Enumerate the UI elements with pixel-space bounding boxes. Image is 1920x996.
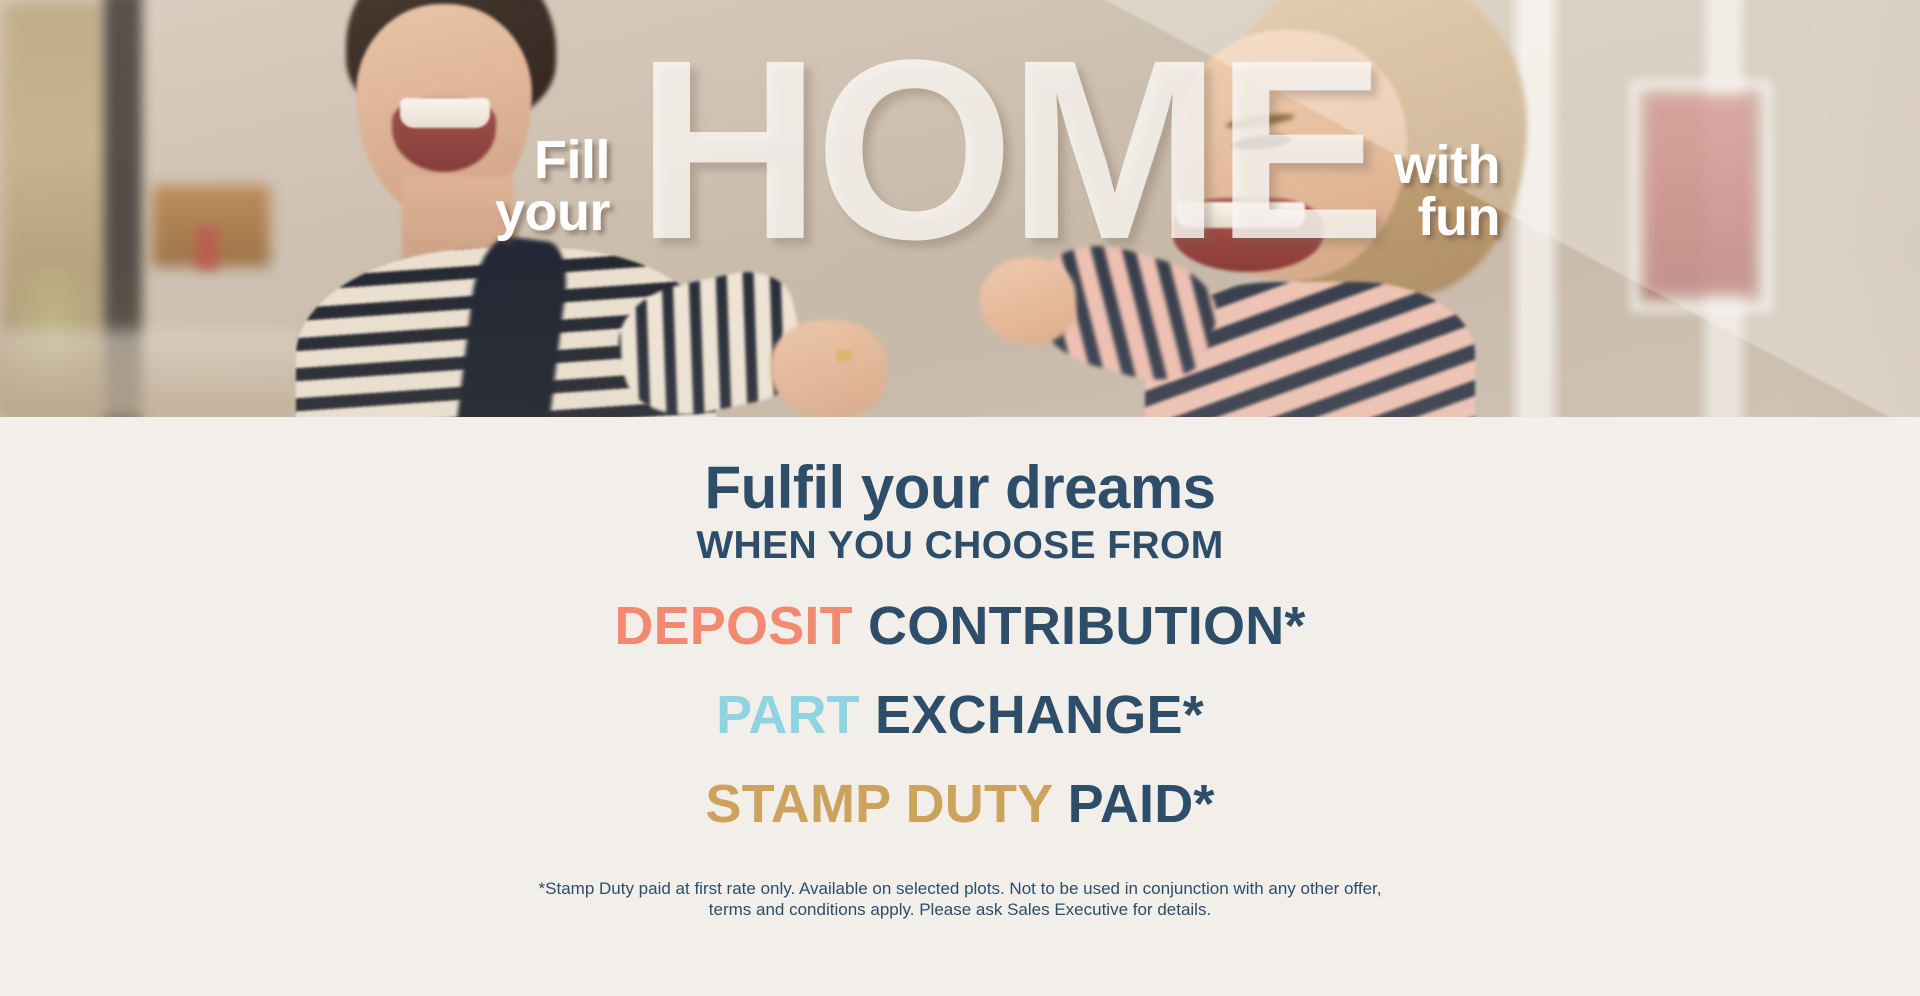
- offer-highlight-deposit: DEPOSIT: [614, 596, 852, 656]
- woman-figure: [150, 0, 710, 417]
- offer-item-deposit-contribution: DEPOSIT CONTRIBUTION*: [0, 599, 1920, 653]
- disclaimer-line-2: terms and conditions apply. Please ask S…: [0, 900, 1920, 921]
- offer-highlight-stamp-duty: STAMP DUTY: [705, 774, 1052, 834]
- hero-photo: [0, 0, 1920, 417]
- offers-section: Fulfil your dreams WHEN YOU CHOOSE FROM …: [0, 417, 1920, 996]
- disclaimer-line-1: *Stamp Duty paid at first rate only. Ava…: [0, 879, 1920, 900]
- child-teeth: [1177, 202, 1305, 228]
- offers-list: DEPOSIT CONTRIBUTION* PART EXCHANGE* STA…: [0, 599, 1920, 831]
- child-hand: [980, 258, 1076, 344]
- picture-frame-red: [1645, 95, 1755, 295]
- offer-rest-contribution: CONTRIBUTION*: [853, 596, 1306, 656]
- woman-hand: [770, 320, 886, 417]
- hero-section: Fill your HOME with fun: [0, 0, 1920, 417]
- offer-item-part-exchange: PART EXCHANGE*: [0, 688, 1920, 742]
- child-figure: [1185, 0, 1615, 417]
- offer-rest-paid: PAID*: [1052, 774, 1214, 834]
- offer-rest-exchange: EXCHANGE*: [860, 685, 1204, 745]
- section-heading: Fulfil your dreams: [0, 458, 1920, 518]
- woman-teeth: [400, 98, 490, 128]
- offer-item-stamp-duty-paid: STAMP DUTY PAID*: [0, 777, 1920, 831]
- promo-banner: Fill your HOME with fun Fulfil your drea…: [0, 0, 1920, 996]
- woman-ring: [836, 350, 852, 362]
- section-subheading: WHEN YOU CHOOSE FROM: [0, 526, 1920, 565]
- disclaimer: *Stamp Duty paid at first rate only. Ava…: [0, 879, 1920, 920]
- offer-highlight-part: PART: [716, 685, 860, 745]
